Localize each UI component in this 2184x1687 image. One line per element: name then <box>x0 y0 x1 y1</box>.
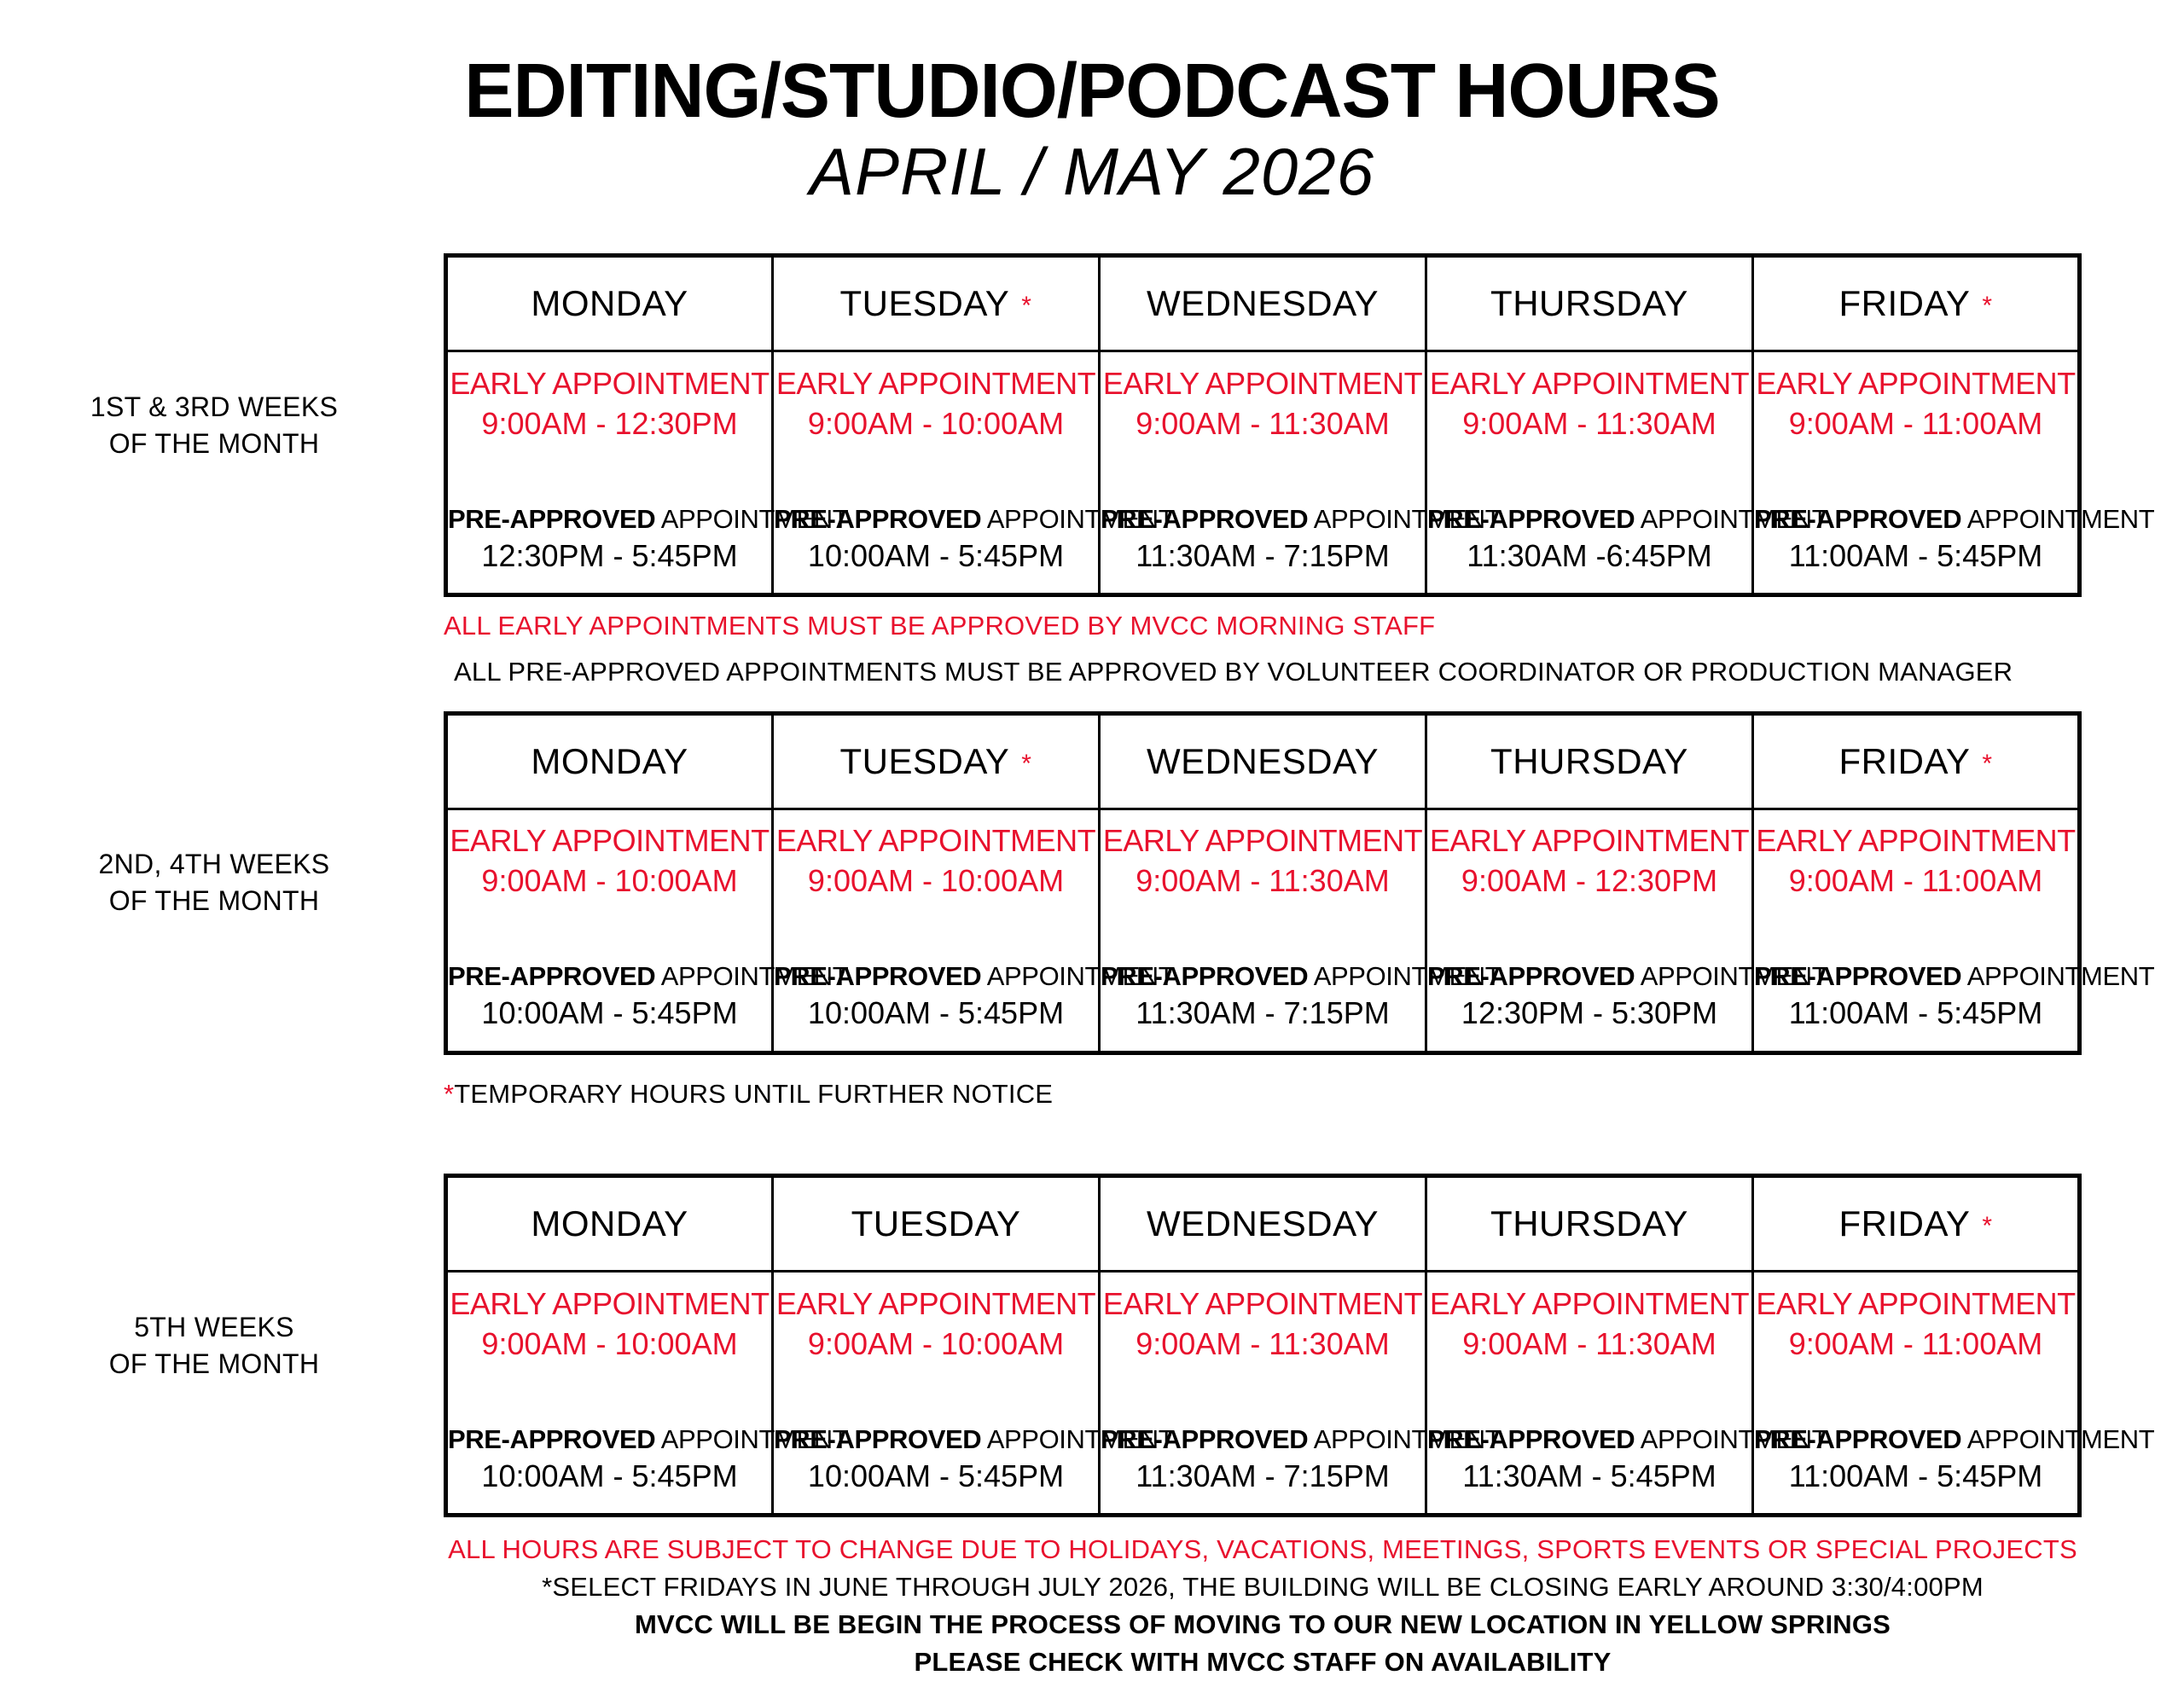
schedule-table-weeks-5: MONDAY TUESDAY WEDNESDAY THURSDAY FRIDAY… <box>444 1174 2082 1517</box>
slot-cell-friday: EARLY APPOINTMENT 9:00AM - 11:00AM PRE-A… <box>1753 351 2080 595</box>
early-appointment-label: EARLY APPOINTMENT <box>1427 825 1751 858</box>
slot-cell-thursday: EARLY APPOINTMENT 9:00AM - 12:30PM PRE-A… <box>1426 809 1753 1052</box>
pre-approved-label: PRE-APPROVED APPOINTMENT <box>448 962 771 991</box>
early-appointment-label: EARLY APPOINTMENT <box>1754 1288 2077 1321</box>
schedule-table-weeks-2-4: MONDAY TUESDAY* WEDNESDAY THURSDAY FRIDA… <box>444 711 2082 1055</box>
early-appointment-label: EARLY APPOINTMENT <box>448 825 771 858</box>
early-appointment-time: 9:00AM - 10:00AM <box>448 1321 771 1367</box>
schedule-section-3: 5TH WEEKS OF THE MONTH MONDAY TUESDAY WE… <box>0 1174 2184 1517</box>
pre-approved-time: 11:30AM - 7:15PM <box>1101 991 1425 1035</box>
early-appointment-time: 9:00AM - 11:30AM <box>1427 401 1751 447</box>
pre-approved-label: PRE-APPROVED APPOINTMENT <box>448 505 771 534</box>
pre-approved-time: 10:00AM - 5:45PM <box>448 1454 771 1499</box>
schedule-section-2: 2ND, 4TH WEEKS OF THE MONTH MONDAY TUESD… <box>0 711 2184 1055</box>
schedule-poster: EDITING/STUDIO/PODCAST HOURS APRIL / MAY… <box>0 0 2184 1687</box>
day-header-friday: FRIDAY* <box>1753 256 2080 351</box>
early-appointment-label: EARLY APPOINTMENT <box>1101 1288 1425 1321</box>
pre-approved-label: PRE-APPROVED APPOINTMENT <box>774 505 1098 534</box>
row-label-weeks-1-3: 1ST & 3RD WEEKS OF THE MONTH <box>0 389 444 462</box>
footer-note-moving: MVCC WILL BE BEGIN THE PROCESS OF MOVING… <box>444 1606 2082 1644</box>
day-header-wednesday: WEDNESDAY <box>1100 1176 1426 1272</box>
pre-approved-label: PRE-APPROVED APPOINTMENT <box>1101 962 1425 991</box>
early-appointment-label: EARLY APPOINTMENT <box>774 368 1098 401</box>
day-header-thursday: THURSDAY <box>1426 713 1753 809</box>
slot-cell-wednesday: EARLY APPOINTMENT 9:00AM - 11:30AM PRE-A… <box>1100 351 1426 595</box>
title-block: EDITING/STUDIO/PODCAST HOURS APRIL / MAY… <box>0 0 2184 209</box>
early-appointment-time: 9:00AM - 11:30AM <box>1101 401 1425 447</box>
slot-cell-tuesday: EARLY APPOINTMENT 9:00AM - 10:00AM PRE-A… <box>773 351 1100 595</box>
spacer <box>0 209 2184 253</box>
slot-cell-thursday: EARLY APPOINTMENT 9:00AM - 11:30AM PRE-A… <box>1426 1272 1753 1516</box>
early-appointment-time: 9:00AM - 10:00AM <box>774 401 1098 447</box>
pre-approved-time: 11:00AM - 5:45PM <box>1754 534 2077 578</box>
table-row: EARLY APPOINTMENT 9:00AM - 12:30PM PRE-A… <box>446 351 2080 595</box>
early-appointment-label: EARLY APPOINTMENT <box>774 825 1098 858</box>
day-header-monday: MONDAY <box>446 713 773 809</box>
day-header-monday: MONDAY <box>446 256 773 351</box>
asterisk-icon: * <box>542 1572 552 1602</box>
row-label-line-1: 5TH WEEKS <box>0 1309 428 1346</box>
row-label-weeks-5: 5TH WEEKS OF THE MONTH <box>0 1309 444 1383</box>
asterisk-icon: * <box>1970 750 1992 778</box>
early-appointment-label: EARLY APPOINTMENT <box>1427 1288 1751 1321</box>
asterisk-icon: * <box>1009 750 1031 778</box>
page-subtitle: APRIL / MAY 2026 <box>0 130 2184 209</box>
pre-approved-time: 11:00AM - 5:45PM <box>1754 991 2077 1035</box>
slot-cell-wednesday: EARLY APPOINTMENT 9:00AM - 11:30AM PRE-A… <box>1100 809 1426 1052</box>
notes-after-table-1: ALL EARLY APPOINTMENTS MUST BE APPROVED … <box>444 609 2082 688</box>
pre-approved-time: 11:30AM -6:45PM <box>1427 534 1751 578</box>
slot-cell-thursday: EARLY APPOINTMENT 9:00AM - 11:30AM PRE-A… <box>1426 351 1753 595</box>
day-header-tuesday: TUESDAY <box>773 1176 1100 1272</box>
day-header-monday: MONDAY <box>446 1176 773 1272</box>
pre-approved-label: PRE-APPROVED APPOINTMENT <box>1754 505 2077 534</box>
pre-approved-label: PRE-APPROVED APPOINTMENT <box>1754 962 2077 991</box>
footer-note-subject-to-change: ALL HOURS ARE SUBJECT TO CHANGE DUE TO H… <box>444 1531 2082 1568</box>
page-title: EDITING/STUDIO/PODCAST HOURS <box>32 53 2151 130</box>
note-preapproved-approval: ALL PRE-APPROVED APPOINTMENTS MUST BE AP… <box>444 655 2082 689</box>
early-appointment-label: EARLY APPOINTMENT <box>1101 368 1425 401</box>
schedule-table-weeks-1-3: MONDAY TUESDAY* WEDNESDAY THURSDAY FRIDA… <box>444 253 2082 597</box>
footer-note-select-fridays: *SELECT FRIDAYS IN JUNE THROUGH JULY 202… <box>444 1568 2082 1606</box>
early-appointment-label: EARLY APPOINTMENT <box>1101 825 1425 858</box>
table-header-row: MONDAY TUESDAY WEDNESDAY THURSDAY FRIDAY… <box>446 1176 2080 1272</box>
asterisk-icon: * <box>1970 1212 1992 1240</box>
early-appointment-time: 9:00AM - 11:00AM <box>1754 1321 2077 1367</box>
slot-cell-tuesday: EARLY APPOINTMENT 9:00AM - 10:00AM PRE-A… <box>773 1272 1100 1516</box>
slot-cell-friday: EARLY APPOINTMENT 9:00AM - 11:00AM PRE-A… <box>1753 1272 2080 1516</box>
asterisk-icon: * <box>1009 292 1031 320</box>
row-label-line-2: OF THE MONTH <box>0 883 428 919</box>
pre-approved-time: 10:00AM - 5:45PM <box>774 991 1098 1035</box>
early-appointment-time: 9:00AM - 11:30AM <box>1101 858 1425 904</box>
pre-approved-label: PRE-APPROVED APPOINTMENT <box>1427 505 1751 534</box>
pre-approved-label: PRE-APPROVED APPOINTMENT <box>1427 962 1751 991</box>
pre-approved-time: 10:00AM - 5:45PM <box>774 1454 1098 1499</box>
pre-approved-time: 12:30PM - 5:45PM <box>448 534 771 578</box>
slot-cell-monday: EARLY APPOINTMENT 9:00AM - 10:00AM PRE-A… <box>446 1272 773 1516</box>
table-row: EARLY APPOINTMENT 9:00AM - 10:00AM PRE-A… <box>446 1272 2080 1516</box>
early-appointment-time: 9:00AM - 11:30AM <box>1427 1321 1751 1367</box>
slot-cell-wednesday: EARLY APPOINTMENT 9:00AM - 11:30AM PRE-A… <box>1100 1272 1426 1516</box>
slot-cell-tuesday: EARLY APPOINTMENT 9:00AM - 10:00AM PRE-A… <box>773 809 1100 1052</box>
early-appointment-time: 9:00AM - 10:00AM <box>448 858 771 904</box>
slot-cell-monday: EARLY APPOINTMENT 9:00AM - 12:30PM PRE-A… <box>446 351 773 595</box>
pre-approved-time: 11:30AM - 7:15PM <box>1101 1454 1425 1499</box>
pre-approved-time: 10:00AM - 5:45PM <box>448 991 771 1035</box>
pre-approved-label: PRE-APPROVED APPOINTMENT <box>774 962 1098 991</box>
pre-approved-label: PRE-APPROVED APPOINTMENT <box>448 1425 771 1454</box>
day-header-wednesday: WEDNESDAY <box>1100 713 1426 809</box>
pre-approved-time: 10:00AM - 5:45PM <box>774 534 1098 578</box>
early-appointment-time: 9:00AM - 11:00AM <box>1754 401 2077 447</box>
footer-note-check-staff: PLEASE CHECK WITH MVCC STAFF ON AVAILABI… <box>444 1644 2082 1681</box>
row-label-line-1: 1ST & 3RD WEEKS <box>0 389 428 426</box>
pre-approved-label: PRE-APPROVED APPOINTMENT <box>1427 1425 1751 1454</box>
row-label-line-1: 2ND, 4TH WEEKS <box>0 846 428 883</box>
pre-approved-time: 11:30AM - 7:15PM <box>1101 534 1425 578</box>
early-appointment-time: 9:00AM - 11:30AM <box>1101 1321 1425 1367</box>
early-appointment-time: 9:00AM - 12:30PM <box>448 401 771 447</box>
row-label-weeks-2-4: 2ND, 4TH WEEKS OF THE MONTH <box>0 846 444 919</box>
schedule-section-1: 1ST & 3RD WEEKS OF THE MONTH MONDAY TUES… <box>0 253 2184 597</box>
row-label-line-2: OF THE MONTH <box>0 1346 428 1383</box>
asterisk-icon: * <box>1970 292 1992 320</box>
early-appointment-time: 9:00AM - 12:30PM <box>1427 858 1751 904</box>
table-row: EARLY APPOINTMENT 9:00AM - 10:00AM PRE-A… <box>446 809 2080 1052</box>
early-appointment-label: EARLY APPOINTMENT <box>448 1288 771 1321</box>
pre-approved-label: PRE-APPROVED APPOINTMENT <box>774 1425 1098 1454</box>
pre-approved-label: PRE-APPROVED APPOINTMENT <box>1101 1425 1425 1454</box>
day-header-friday: FRIDAY* <box>1753 713 2080 809</box>
pre-approved-time: 12:30PM - 5:30PM <box>1427 991 1751 1035</box>
day-header-friday: FRIDAY* <box>1753 1176 2080 1272</box>
footer-notes: ALL HOURS ARE SUBJECT TO CHANGE DUE TO H… <box>444 1517 2082 1681</box>
day-header-tuesday: TUESDAY* <box>773 713 1100 809</box>
early-appointment-label: EARLY APPOINTMENT <box>1427 368 1751 401</box>
day-header-tuesday: TUESDAY* <box>773 256 1100 351</box>
row-label-line-2: OF THE MONTH <box>0 426 428 462</box>
table-header-row: MONDAY TUESDAY* WEDNESDAY THURSDAY FRIDA… <box>446 256 2080 351</box>
slot-cell-friday: EARLY APPOINTMENT 9:00AM - 11:00AM PRE-A… <box>1753 809 2080 1052</box>
early-appointment-label: EARLY APPOINTMENT <box>448 368 771 401</box>
pre-approved-time: 11:00AM - 5:45PM <box>1754 1454 2077 1499</box>
slot-cell-monday: EARLY APPOINTMENT 9:00AM - 10:00AM PRE-A… <box>446 809 773 1052</box>
pre-approved-label: PRE-APPROVED APPOINTMENT <box>1101 505 1425 534</box>
early-appointment-label: EARLY APPOINTMENT <box>1754 825 2077 858</box>
notes-after-table-2: *TEMPORARY HOURS UNTIL FURTHER NOTICE <box>444 1077 2082 1111</box>
day-header-thursday: THURSDAY <box>1426 256 1753 351</box>
day-header-wednesday: WEDNESDAY <box>1100 256 1426 351</box>
early-appointment-time: 9:00AM - 10:00AM <box>774 1321 1098 1367</box>
early-appointment-time: 9:00AM - 11:00AM <box>1754 858 2077 904</box>
pre-approved-time: 11:30AM - 5:45PM <box>1427 1454 1751 1499</box>
early-appointment-label: EARLY APPOINTMENT <box>774 1288 1098 1321</box>
pre-approved-label: PRE-APPROVED APPOINTMENT <box>1754 1425 2077 1454</box>
table-header-row: MONDAY TUESDAY* WEDNESDAY THURSDAY FRIDA… <box>446 713 2080 809</box>
note-early-approval: ALL EARLY APPOINTMENTS MUST BE APPROVED … <box>444 609 2082 643</box>
early-appointment-time: 9:00AM - 10:00AM <box>774 858 1098 904</box>
day-header-thursday: THURSDAY <box>1426 1176 1753 1272</box>
asterisk-icon: * <box>444 1079 454 1109</box>
early-appointment-label: EARLY APPOINTMENT <box>1754 368 2077 401</box>
note-temporary-hours: *TEMPORARY HOURS UNTIL FURTHER NOTICE <box>444 1077 2082 1111</box>
